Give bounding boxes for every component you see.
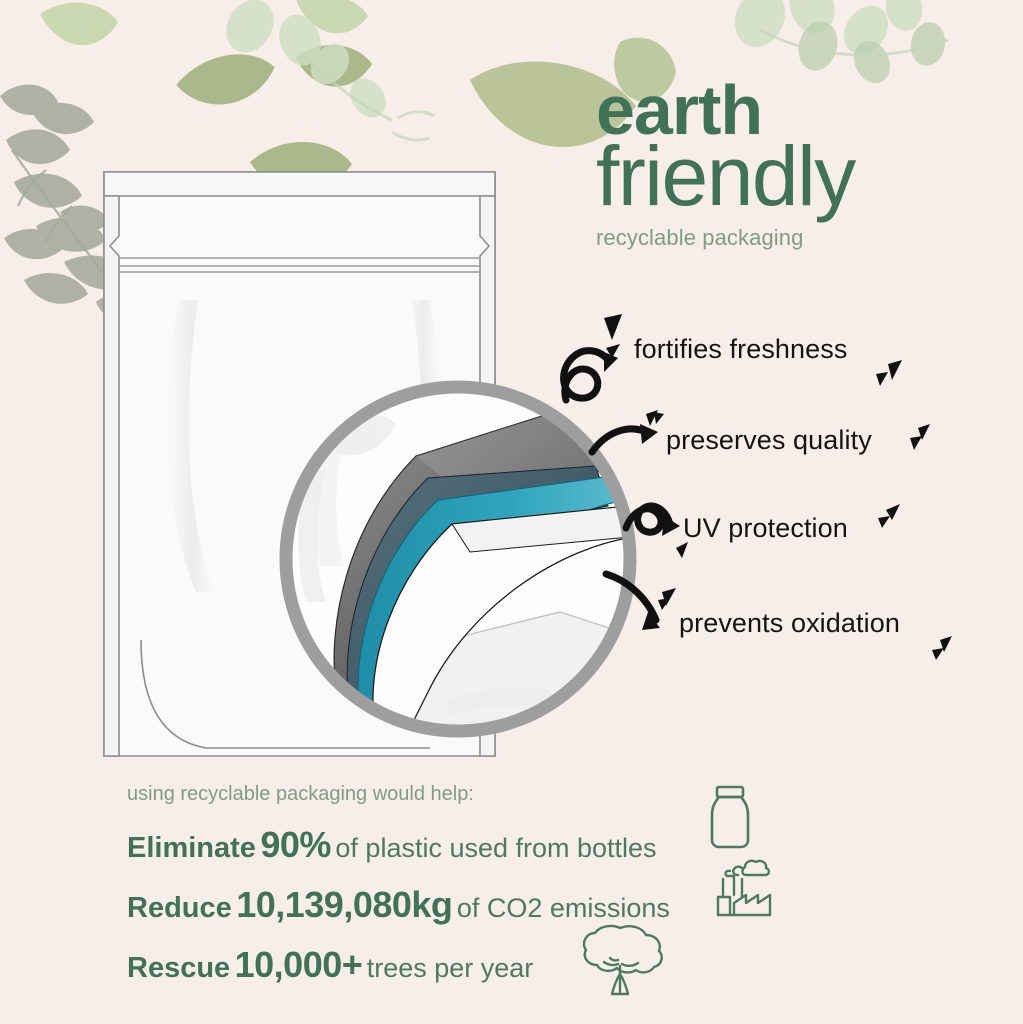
stat-value: 10,000+ xyxy=(235,944,363,985)
bottle-icon xyxy=(706,784,754,850)
headline-block: earth friendly recyclable packaging xyxy=(596,78,996,248)
curly-loop-arrow xyxy=(564,351,608,400)
factory-icon xyxy=(712,857,776,917)
stat-rest: trees per year xyxy=(367,953,534,983)
stat-row-eliminate: Eliminate 90% of plastic used from bottl… xyxy=(127,824,657,866)
stat-verb: Rescue xyxy=(127,952,230,984)
stat-row-reduce: Reduce 10,139,080kg of CO2 emissions xyxy=(127,884,670,926)
stats-intro-text: using recyclable packaging would help: xyxy=(127,783,474,806)
stat-row-rescue: Rescue 10,000+ trees per year xyxy=(127,944,533,986)
stat-rest: of plastic used from bottles xyxy=(335,833,656,863)
stat-verb: Eliminate xyxy=(127,832,256,864)
stat-verb: Reduce xyxy=(127,892,232,924)
stat-value: 10,139,080kg xyxy=(236,884,452,925)
poster-canvas: earth friendly recyclable packaging fort… xyxy=(0,0,1023,1024)
feature-label-prevents-oxidation: prevents oxidation xyxy=(679,608,900,639)
curved-arrow-preserves xyxy=(592,429,646,452)
stat-rest: of CO2 emissions xyxy=(457,893,670,923)
feature-label-preserves-quality: preserves quality xyxy=(666,425,872,456)
headline-subtitle: recyclable packaging xyxy=(596,228,996,248)
headline-line-2: friendly xyxy=(596,138,996,215)
stat-value: 90% xyxy=(260,824,331,865)
tree-icon xyxy=(574,922,666,1000)
feature-label-uv-protection: UV protection xyxy=(683,513,848,544)
feature-label-fortifies-freshness: fortifies freshness xyxy=(634,334,847,365)
